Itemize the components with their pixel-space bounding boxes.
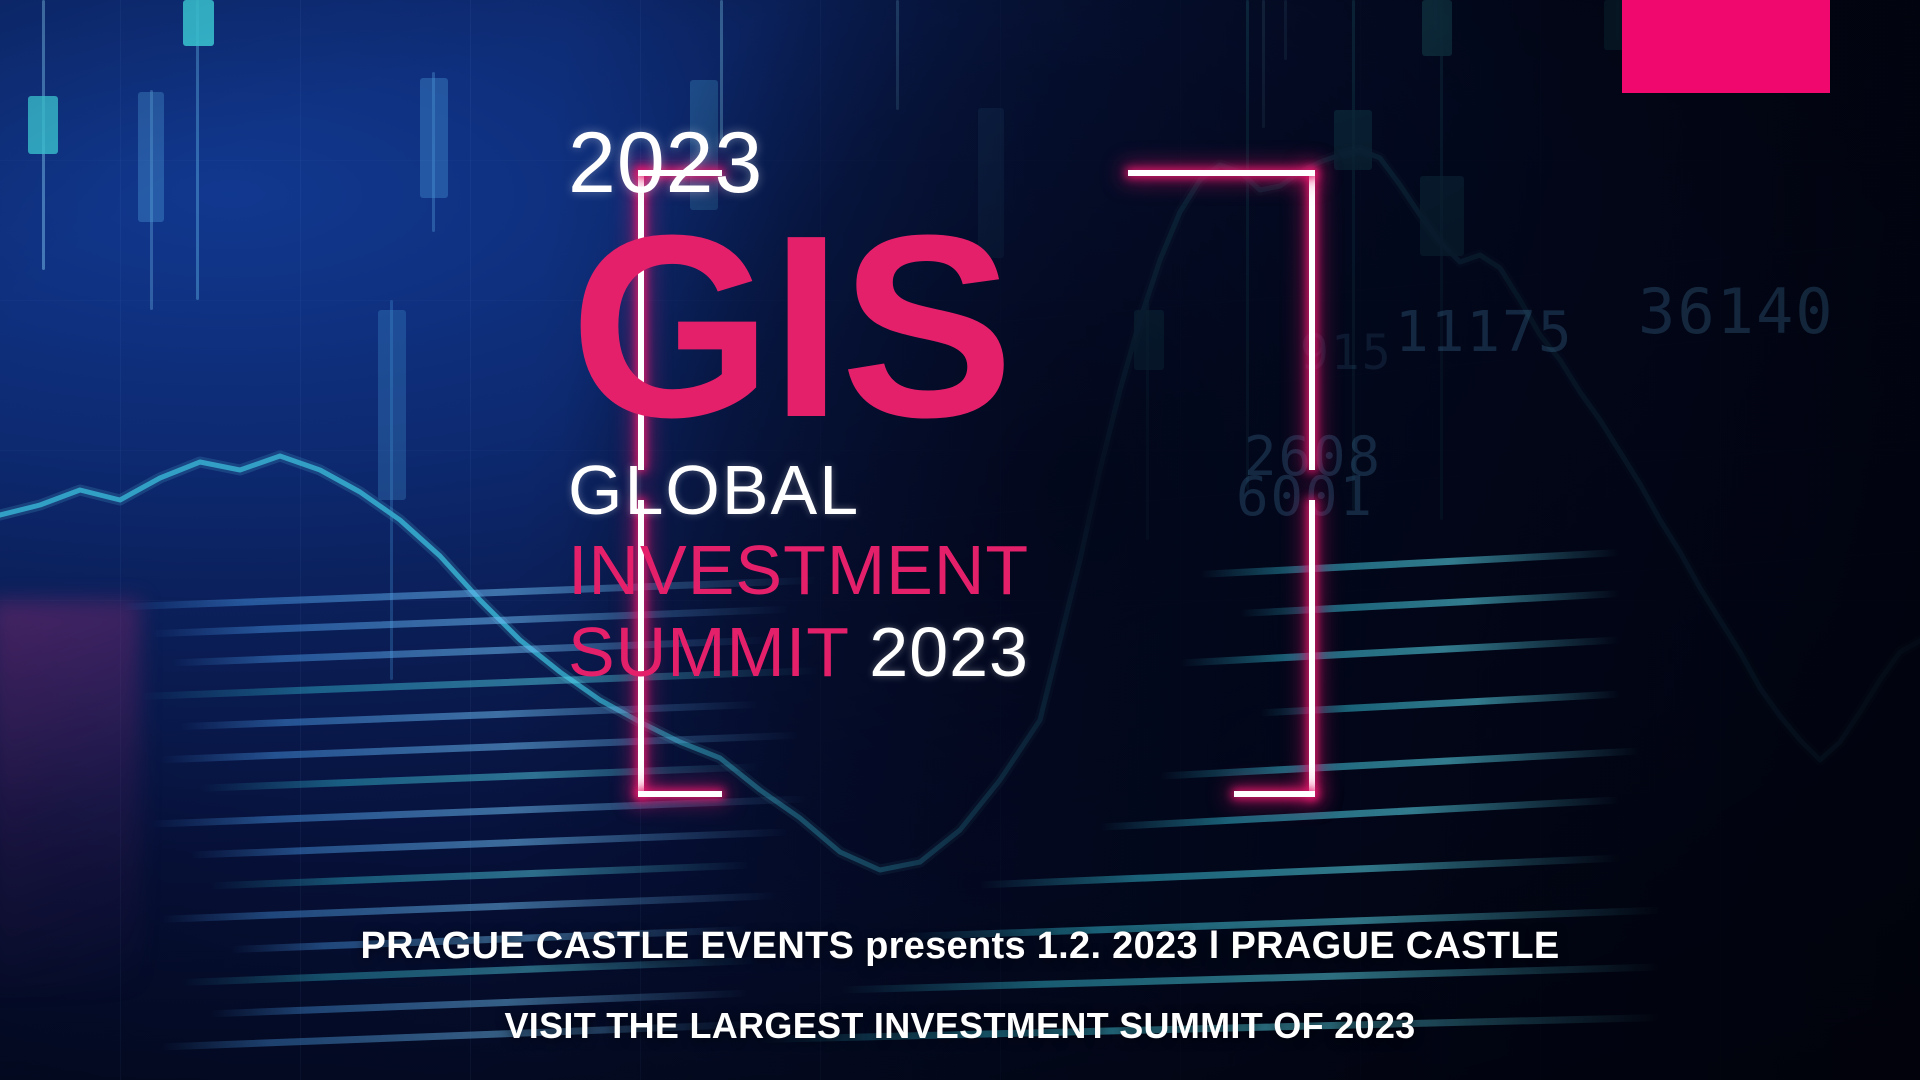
frame-bottom-right-horizontal — [1234, 791, 1315, 797]
logo-line-global: GLOBAL — [568, 450, 860, 530]
gis-logo: 2023 GIS GLOBAL INVESTMENT SUMMIT 2023 — [638, 120, 1328, 810]
frame-top-right-vertical — [1309, 170, 1315, 470]
caption-line-1: PRAGUE CASTLE EVENTS presents 1.2. 2023 … — [0, 925, 1920, 968]
poster-canvas: 11175 36140 2608 6001 915 — [0, 0, 1920, 1080]
logo-summit-word: SUMMIT — [568, 613, 849, 691]
frame-bottom-right-vertical — [1309, 500, 1315, 797]
pink-badge — [1622, 0, 1830, 93]
logo-line-summit: SUMMIT 2023 — [568, 612, 1029, 692]
caption-line-2: VISIT THE LARGEST INVESTMENT SUMMIT OF 2… — [0, 1005, 1920, 1047]
frame-top-right-horizontal — [1128, 170, 1315, 176]
logo-summit-year: 2023 — [869, 613, 1029, 691]
logo-acronym: GIS — [570, 208, 1012, 447]
frame-bottom-left-horizontal — [638, 791, 722, 797]
logo-line-investment: INVESTMENT — [568, 530, 1029, 610]
